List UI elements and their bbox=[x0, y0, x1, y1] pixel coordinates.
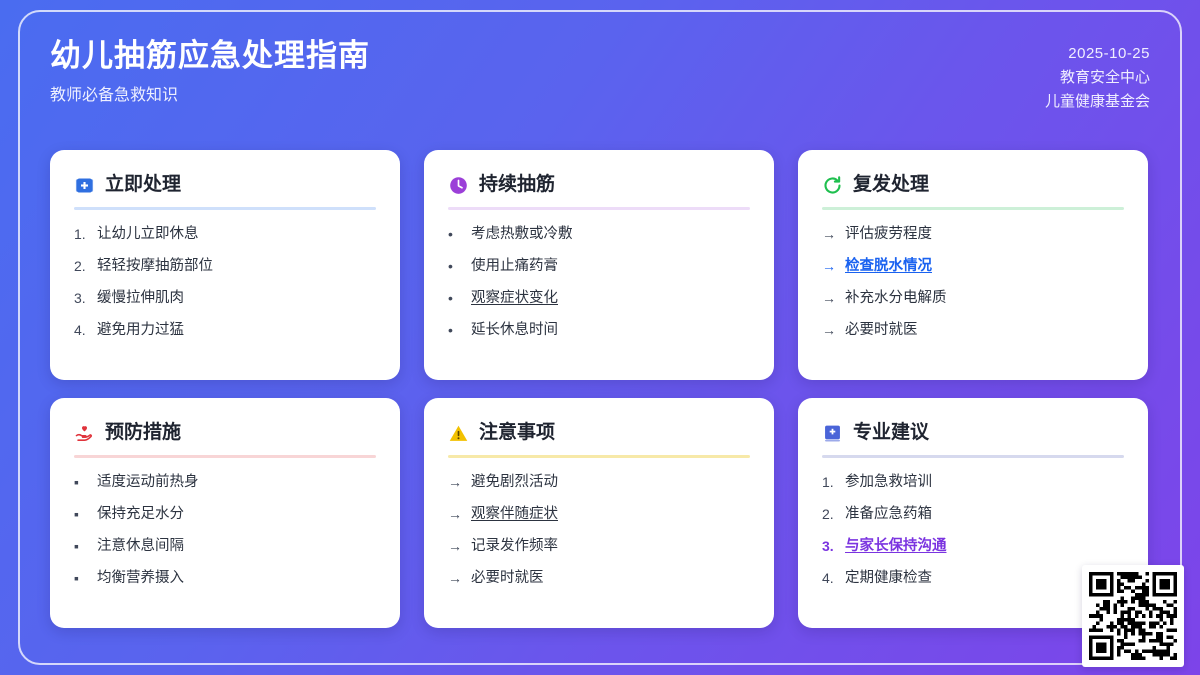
header-org-primary: 教育安全中心 bbox=[1045, 66, 1150, 90]
card-header: 注意事项 bbox=[448, 420, 750, 446]
list-item-text: 定期健康检查 bbox=[845, 568, 932, 588]
list-marker: → bbox=[448, 472, 463, 492]
list-item-text: 避免用力过猛 bbox=[97, 320, 184, 340]
list-item[interactable]: →检查脱水情况 bbox=[822, 256, 1124, 276]
list-item-text: 注意休息间隔 bbox=[97, 536, 184, 556]
list-item: •考虑热敷或冷敷 bbox=[448, 224, 750, 244]
heart-hands-icon bbox=[74, 423, 95, 444]
list-item-text: 参加急救培训 bbox=[845, 472, 932, 492]
list-item: 3.缓慢拉伸肌肉 bbox=[74, 288, 376, 308]
list-item-text: 轻轻按摩抽筋部位 bbox=[97, 256, 213, 276]
list-marker: • bbox=[448, 256, 463, 276]
list-marker: 4. bbox=[822, 568, 837, 588]
list-item: →评估疲劳程度 bbox=[822, 224, 1124, 244]
list-marker: 4. bbox=[74, 320, 89, 340]
list-item: 4.定期健康检查 bbox=[822, 568, 1124, 588]
list-item-text: 必要时就医 bbox=[471, 568, 544, 588]
list-item: ▪注意休息间隔 bbox=[74, 536, 376, 556]
list-item-text: 考虑热敷或冷敷 bbox=[471, 224, 573, 244]
card-注意事项: 注意事项→避免剧烈活动→观察伴随症状→记录发作频率→必要时就医 bbox=[424, 398, 774, 628]
medical-book-icon bbox=[822, 423, 843, 444]
list-item-text: 准备应急药箱 bbox=[845, 504, 932, 524]
list-item: 2.轻轻按摩抽筋部位 bbox=[74, 256, 376, 276]
list-marker: 1. bbox=[74, 224, 89, 244]
qr-code bbox=[1089, 572, 1177, 660]
list-marker: 2. bbox=[74, 256, 89, 276]
card-grid: 立即处理1.让幼儿立即休息2.轻轻按摩抽筋部位3.缓慢拉伸肌肉4.避免用力过猛持… bbox=[50, 150, 1150, 628]
list-item: →必要时就医 bbox=[822, 320, 1124, 340]
list-item-text: 缓慢拉伸肌肉 bbox=[97, 288, 184, 308]
list-item-text: 评估疲劳程度 bbox=[845, 224, 932, 244]
list-marker: ▪ bbox=[74, 472, 89, 492]
list-item: ▪保持充足水分 bbox=[74, 504, 376, 524]
list-item: →必要时就医 bbox=[448, 568, 750, 588]
refresh-icon bbox=[822, 175, 843, 196]
list-item: ▪适度运动前热身 bbox=[74, 472, 376, 492]
list-item-text: 记录发作频率 bbox=[471, 536, 558, 556]
list-item-link[interactable]: 检查脱水情况 bbox=[845, 256, 932, 276]
card-预防措施: 预防措施▪适度运动前热身▪保持充足水分▪注意休息间隔▪均衡营养摄入 bbox=[50, 398, 400, 628]
list-marker: • bbox=[448, 288, 463, 308]
list-item: 4.避免用力过猛 bbox=[74, 320, 376, 340]
card-divider bbox=[448, 455, 750, 458]
list-marker: ▪ bbox=[74, 568, 89, 588]
card-复发处理: 复发处理→评估疲劳程度→检查脱水情况→补充水分电解质→必要时就医 bbox=[798, 150, 1148, 380]
header-left: 幼儿抽筋应急处理指南 教师必备急救知识 bbox=[50, 36, 370, 108]
page-subtitle: 教师必备急救知识 bbox=[50, 84, 370, 108]
list-item-text: 让幼儿立即休息 bbox=[97, 224, 199, 244]
clock-icon bbox=[448, 175, 469, 196]
warning-triangle-icon bbox=[448, 423, 469, 444]
list-marker: → bbox=[822, 288, 837, 308]
card-list: →避免剧烈活动→观察伴随症状→记录发作频率→必要时就医 bbox=[448, 472, 750, 588]
card-divider bbox=[74, 207, 376, 210]
list-item-text: 避免剧烈活动 bbox=[471, 472, 558, 492]
card-header: 立即处理 bbox=[74, 172, 376, 198]
list-item-text: 补充水分电解质 bbox=[845, 288, 947, 308]
card-list: ▪适度运动前热身▪保持充足水分▪注意休息间隔▪均衡营养摄入 bbox=[74, 472, 376, 588]
card-title: 立即处理 bbox=[105, 172, 181, 198]
header-date: 2025-10-25 bbox=[1045, 42, 1150, 66]
card-header: 持续抽筋 bbox=[448, 172, 750, 198]
list-marker: ▪ bbox=[74, 536, 89, 556]
slide-root: 幼儿抽筋应急处理指南 教师必备急救知识 2025-10-25 教育安全中心 儿童… bbox=[0, 0, 1200, 675]
list-marker: → bbox=[822, 224, 837, 244]
qr-code-container[interactable] bbox=[1082, 565, 1184, 667]
card-title: 专业建议 bbox=[853, 420, 929, 446]
header-org-secondary: 儿童健康基金会 bbox=[1045, 90, 1150, 114]
card-divider bbox=[74, 455, 376, 458]
list-item: →记录发作频率 bbox=[448, 536, 750, 556]
list-item-text: 适度运动前热身 bbox=[97, 472, 199, 492]
card-list: →评估疲劳程度→检查脱水情况→补充水分电解质→必要时就医 bbox=[822, 224, 1124, 340]
card-divider bbox=[448, 207, 750, 210]
list-item-text: 使用止痛药膏 bbox=[471, 256, 558, 276]
list-marker: ▪ bbox=[74, 504, 89, 524]
list-item: 1.让幼儿立即休息 bbox=[74, 224, 376, 244]
list-marker: → bbox=[822, 320, 837, 340]
card-list: 1.让幼儿立即休息2.轻轻按摩抽筋部位3.缓慢拉伸肌肉4.避免用力过猛 bbox=[74, 224, 376, 340]
header-meta: 2025-10-25 教育安全中心 儿童健康基金会 bbox=[1045, 42, 1150, 114]
list-item: ▪均衡营养摄入 bbox=[74, 568, 376, 588]
card-title: 注意事项 bbox=[479, 420, 555, 446]
card-header: 预防措施 bbox=[74, 420, 376, 446]
list-marker: → bbox=[448, 504, 463, 524]
card-title: 持续抽筋 bbox=[479, 172, 555, 198]
list-marker: 1. bbox=[822, 472, 837, 492]
list-item: •延长休息时间 bbox=[448, 320, 750, 340]
list-marker: → bbox=[448, 536, 463, 556]
list-item: →补充水分电解质 bbox=[822, 288, 1124, 308]
list-item: •使用止痛药膏 bbox=[448, 256, 750, 276]
list-item: •观察症状变化 bbox=[448, 288, 750, 308]
card-title: 复发处理 bbox=[853, 172, 929, 198]
list-item: 1.参加急救培训 bbox=[822, 472, 1124, 492]
list-marker: 3. bbox=[74, 288, 89, 308]
card-divider bbox=[822, 455, 1124, 458]
card-立即处理: 立即处理1.让幼儿立即休息2.轻轻按摩抽筋部位3.缓慢拉伸肌肉4.避免用力过猛 bbox=[50, 150, 400, 380]
card-持续抽筋: 持续抽筋•考虑热敷或冷敷•使用止痛药膏•观察症状变化•延长休息时间 bbox=[424, 150, 774, 380]
card-list: 1.参加急救培训2.准备应急药箱3.与家长保持沟通4.定期健康检查 bbox=[822, 472, 1124, 588]
page-title: 幼儿抽筋应急处理指南 bbox=[50, 36, 370, 76]
list-marker: → bbox=[448, 568, 463, 588]
list-item-text: 保持充足水分 bbox=[97, 504, 184, 524]
list-item-text: 必要时就医 bbox=[845, 320, 918, 340]
list-marker: → bbox=[822, 256, 837, 276]
header: 幼儿抽筋应急处理指南 教师必备急救知识 2025-10-25 教育安全中心 儿童… bbox=[50, 36, 1150, 136]
list-item-link[interactable]: 与家长保持沟通 bbox=[845, 536, 947, 556]
list-item-text: 延长休息时间 bbox=[471, 320, 558, 340]
list-item-text: 均衡营养摄入 bbox=[97, 568, 184, 588]
list-marker: 2. bbox=[822, 504, 837, 524]
list-item: →避免剧烈活动 bbox=[448, 472, 750, 492]
list-marker: • bbox=[448, 224, 463, 244]
list-item: 2.准备应急药箱 bbox=[822, 504, 1124, 524]
hospital-icon bbox=[74, 175, 95, 196]
list-item-text: 观察症状变化 bbox=[471, 288, 558, 308]
list-item: →观察伴随症状 bbox=[448, 504, 750, 524]
card-title: 预防措施 bbox=[105, 420, 181, 446]
card-header: 专业建议 bbox=[822, 420, 1124, 446]
card-divider bbox=[822, 207, 1124, 210]
list-item[interactable]: 3.与家长保持沟通 bbox=[822, 536, 1124, 556]
card-list: •考虑热敷或冷敷•使用止痛药膏•观察症状变化•延长休息时间 bbox=[448, 224, 750, 340]
list-item-text: 观察伴随症状 bbox=[471, 504, 558, 524]
card-header: 复发处理 bbox=[822, 172, 1124, 198]
list-marker: • bbox=[448, 320, 463, 340]
list-marker: 3. bbox=[822, 536, 837, 556]
